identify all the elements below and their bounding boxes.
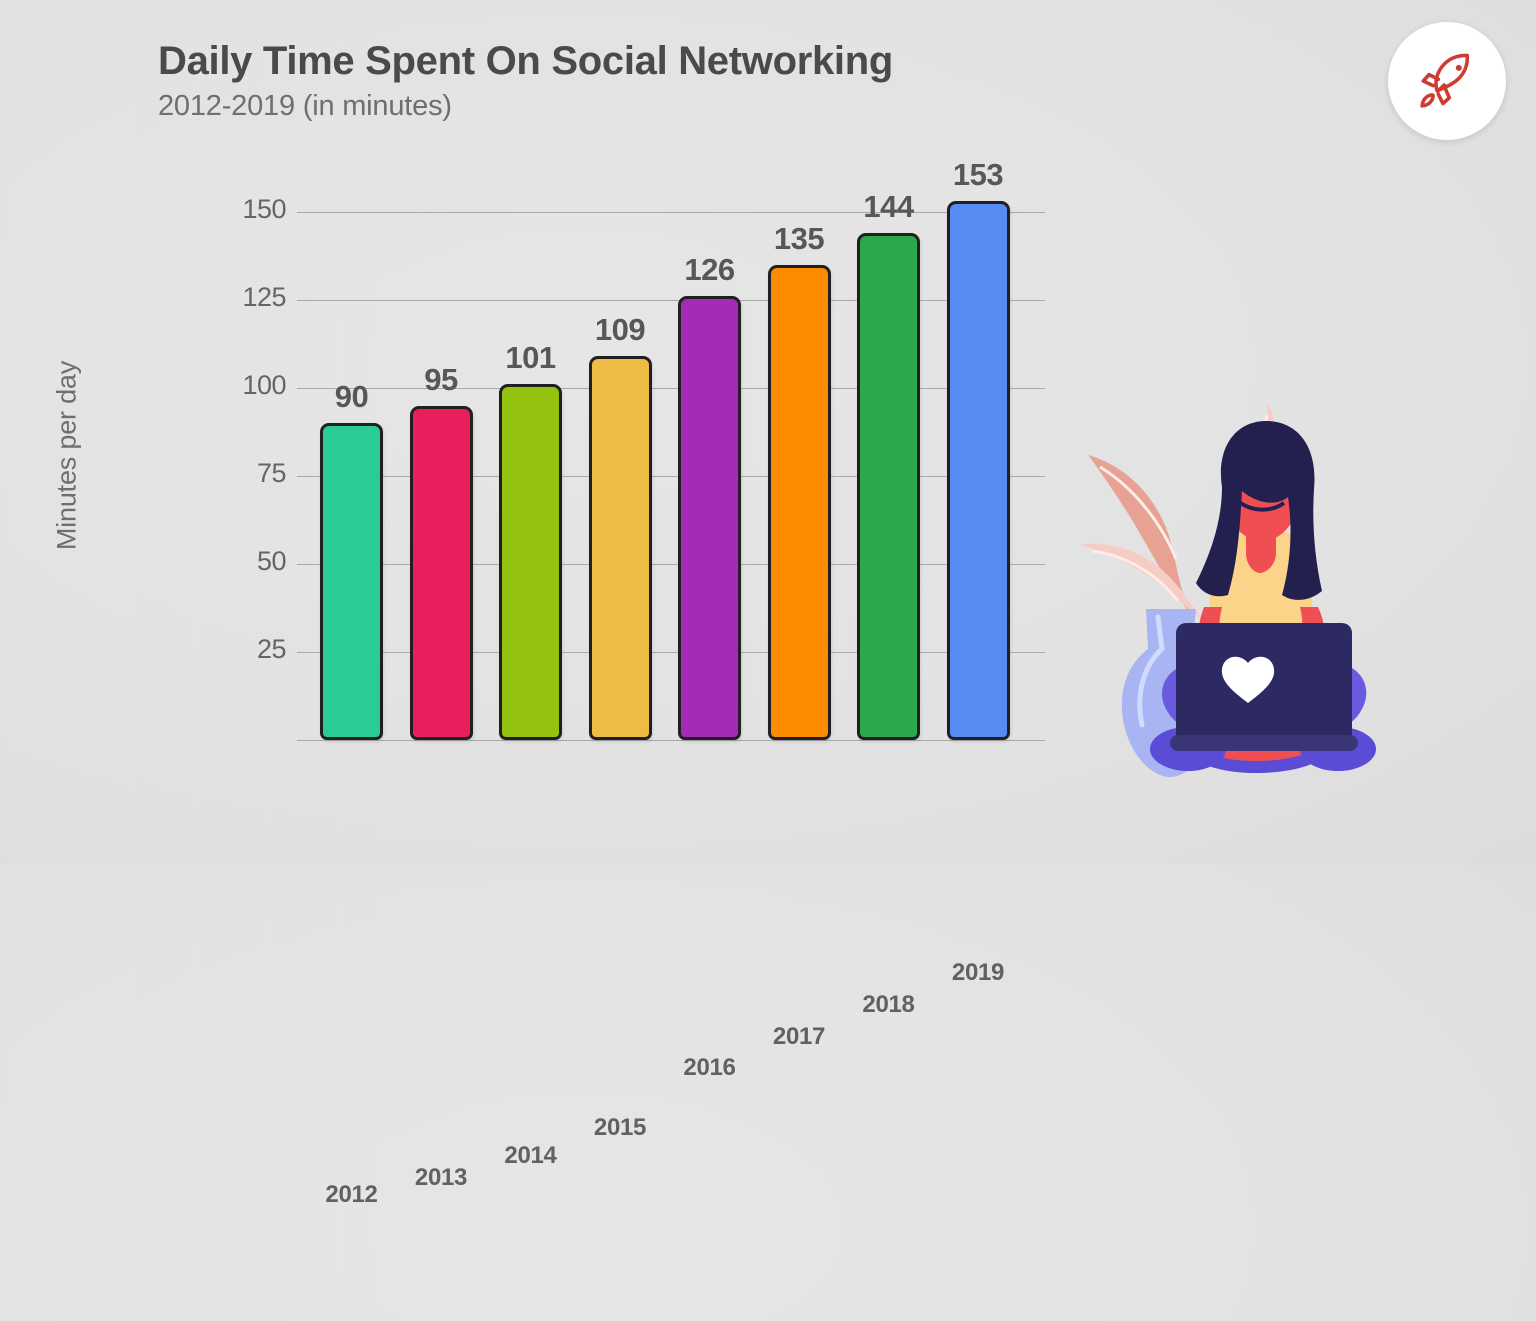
bar-group[interactable]: 952013 (410, 406, 473, 740)
y-axis-tick-label: 125 (166, 282, 286, 313)
y-axis-title: Minutes per day (52, 326, 83, 586)
y-axis-tick-label: 50 (166, 546, 286, 577)
x-axis-tick-label: 2017 (773, 1023, 825, 1257)
bar-group[interactable]: 1262016 (678, 296, 741, 740)
bar[interactable] (320, 423, 383, 740)
bar[interactable] (499, 384, 562, 740)
laptop-icon (1170, 623, 1358, 751)
bar-value-label: 153 (953, 157, 1003, 193)
x-axis-tick-label: 2016 (683, 1054, 735, 1225)
bar-value-label: 90 (335, 379, 368, 415)
bar-group[interactable]: 1442018 (857, 233, 920, 740)
bar[interactable] (768, 265, 831, 740)
bar[interactable] (589, 356, 652, 740)
bar-group[interactable]: 1012014 (499, 384, 562, 740)
bar[interactable] (857, 233, 920, 740)
bar[interactable] (947, 201, 1010, 740)
bar-group[interactable]: 1532019 (947, 201, 1010, 740)
bar-value-label: 101 (505, 340, 555, 376)
bar-group[interactable]: 902012 (320, 423, 383, 740)
bar-group[interactable]: 1092015 (589, 356, 652, 740)
x-axis-baseline (297, 740, 1045, 741)
x-axis-tick-label: 2019 (952, 959, 1004, 1320)
bar-group[interactable]: 1352017 (768, 265, 831, 740)
woman-with-laptop-illustration (1070, 395, 1430, 795)
y-axis-tick-label: 75 (166, 458, 286, 489)
gridline (297, 212, 1045, 213)
y-axis-tick-label: 100 (166, 370, 286, 401)
chart-canvas: Daily Time Spent On Social Networking 20… (0, 0, 1536, 864)
bar-value-label: 126 (684, 252, 734, 288)
gridline (297, 388, 1045, 389)
gridline (297, 300, 1045, 301)
x-axis-tick-label: 2015 (594, 1114, 646, 1165)
x-axis-tick-label: 2018 (862, 991, 914, 1289)
y-axis-tick-label: 25 (166, 634, 286, 665)
bar[interactable] (410, 406, 473, 740)
bar-value-label: 109 (595, 312, 645, 348)
y-axis-tick-label: 150 (166, 194, 286, 225)
bar-value-label: 144 (863, 189, 913, 225)
bar[interactable] (678, 296, 741, 740)
bar-value-label: 135 (774, 221, 824, 257)
bar-value-label: 95 (424, 362, 457, 398)
